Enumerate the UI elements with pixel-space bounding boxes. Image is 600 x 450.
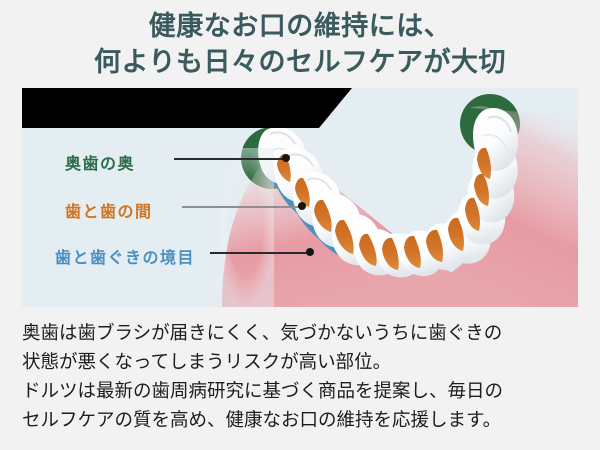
- leader-dot-molar: [282, 154, 290, 162]
- page-title-line-1: 健康なお口の維持には、: [0, 8, 600, 44]
- callout-label-between-teeth: 歯と歯の間: [65, 198, 153, 222]
- leader-dot-gumline: [306, 248, 314, 256]
- body-paragraph-2-line-2: セルフケアの質を高め、健康なお口の維持を応援します。: [22, 405, 582, 434]
- body-paragraph-2-line-1: ドルツは最新の歯周病研究に基づく商品を提案し、毎日の: [22, 376, 582, 405]
- leader-line-molar: [174, 158, 286, 160]
- section-banner: [22, 88, 352, 128]
- leader-line-between: [182, 206, 302, 208]
- leader-dot-between: [298, 202, 306, 210]
- leader-line-gumline: [210, 252, 310, 254]
- page-title-line-2: 何よりも日々のセルフケアが大切: [0, 44, 600, 80]
- callout-label-back-of-molar: 奥歯の奥: [65, 150, 135, 174]
- page-title: 健康なお口の維持には、 何よりも日々のセルフケアが大切: [0, 8, 600, 80]
- body-paragraph-1-line-1: 奥歯は歯ブラシが届きにくく、気づかないうちに歯ぐきの: [22, 318, 582, 347]
- illustration-panel: 奥歯の奥 歯と歯の間 歯と歯ぐきの境目 磨き残しが多い部位: [22, 88, 578, 307]
- body-copy: 奥歯は歯ブラシが届きにくく、気づかないうちに歯ぐきの 状態が悪くなってしまうリス…: [22, 318, 582, 434]
- body-paragraph-1-line-2: 状態が悪くなってしまうリスクが高い部位。: [22, 347, 582, 376]
- callout-label-gumline-border: 歯と歯ぐきの境目: [55, 244, 195, 268]
